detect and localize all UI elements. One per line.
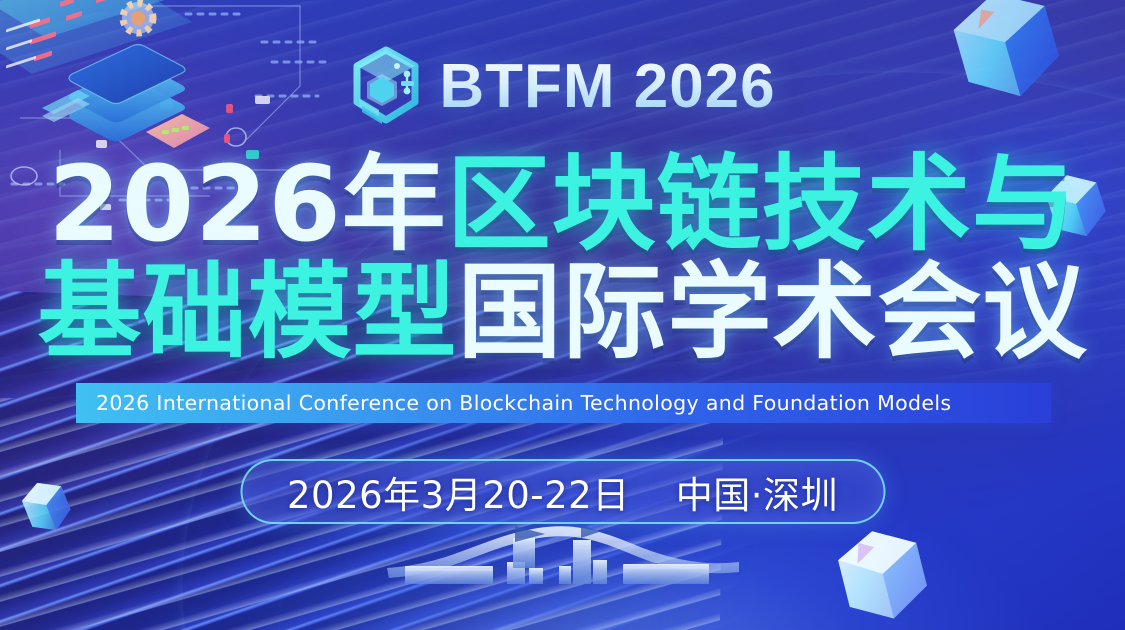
title-line1-part1: 2026年 — [48, 143, 446, 265]
subtitle-band: 2026 International Conference on Blockch… — [76, 383, 1051, 423]
conference-banner: BTFM 2026 2026年区块链技术与 基础模型国际学术会议 2026 In… — [0, 0, 1125, 630]
title-line-2: 基础模型国际学术会议 — [0, 258, 1125, 366]
title-line-1: 2026年区块链技术与 — [0, 150, 1125, 258]
subtitle-text: 2026 International Conference on Blockch… — [96, 391, 951, 415]
main-title: 2026年区块链技术与 基础模型国际学术会议 — [0, 150, 1125, 366]
title-line2-part2: 国际学术会议 — [458, 251, 1088, 373]
hexagon-cube-blockchain-logo-icon — [349, 46, 423, 128]
date-location-pill: 2026年3月20-22日 中国·深圳 — [240, 459, 885, 524]
conference-location: 中国·深圳 — [676, 465, 838, 519]
title-line2-part1: 基础模型 — [37, 251, 457, 373]
conference-date: 2026年3月20-22日 — [287, 465, 630, 519]
logo-row: BTFM 2026 — [0, 46, 1125, 128]
title-line1-part2: 区块链技术与 — [447, 143, 1077, 265]
logo-text: BTFM 2026 — [439, 56, 775, 118]
